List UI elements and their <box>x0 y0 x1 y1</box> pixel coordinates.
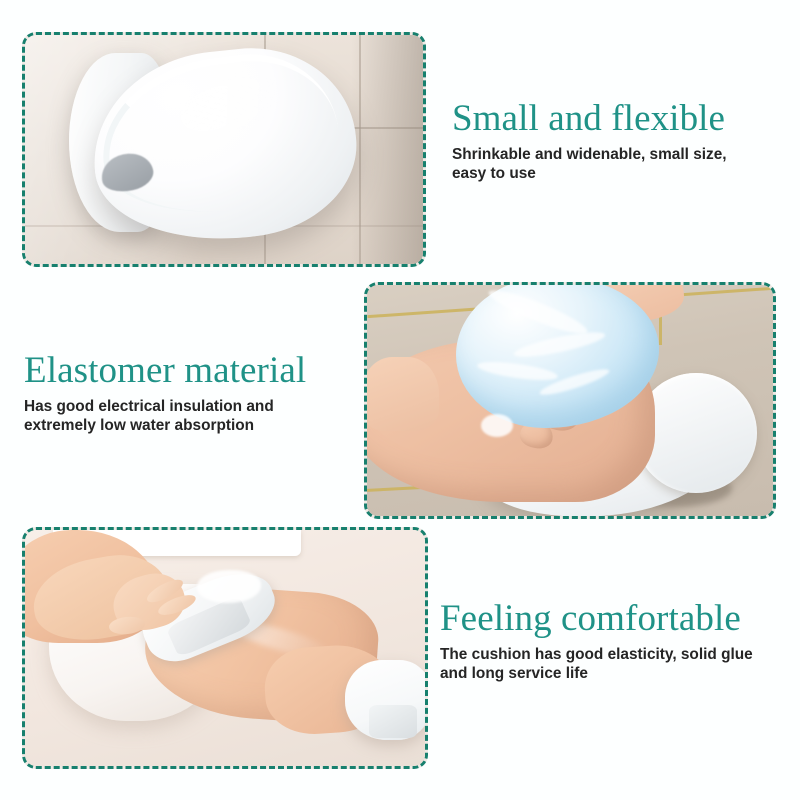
loofah-fold <box>513 327 608 361</box>
photo-scene-wall-mounted-product <box>25 35 423 264</box>
product-infographic-poster: Small and flexible Shrinkable and widena… <box>0 0 800 800</box>
photo-scene-leg-shaving <box>25 530 425 766</box>
feature-title-feeling-comfortable: Feeling comfortable <box>440 600 753 638</box>
loofah-fold <box>485 285 590 341</box>
feature-title-elastomer-material: Elastomer material <box>24 352 306 390</box>
feature-photo-feeling-comfortable <box>22 527 428 769</box>
feature-description-small-and-flexible: Shrinkable and widenable, small size, ea… <box>452 145 727 184</box>
feature-description-feeling-comfortable: The cushion has good elasticity, solid g… <box>440 645 753 684</box>
feature-description-elastomer-material: Has good electrical insulation and extre… <box>24 397 306 436</box>
feature-text-feeling-comfortable: Feeling comfortable The cushion has good… <box>440 600 753 684</box>
feature-title-small-and-flexible: Small and flexible <box>452 100 727 138</box>
feature-text-small-and-flexible: Small and flexible Shrinkable and widena… <box>452 100 727 184</box>
feature-photo-elastomer-material <box>364 282 776 519</box>
pedal-suction-cup <box>369 705 417 738</box>
wall-corner-shadow <box>351 35 423 264</box>
feature-photo-small-and-flexible <box>22 32 426 267</box>
photo-scene-foot-washing <box>367 285 773 516</box>
ankle <box>367 357 439 431</box>
loofah-fold <box>476 359 558 384</box>
feature-text-elastomer-material: Elastomer material Has good electrical i… <box>24 352 306 436</box>
